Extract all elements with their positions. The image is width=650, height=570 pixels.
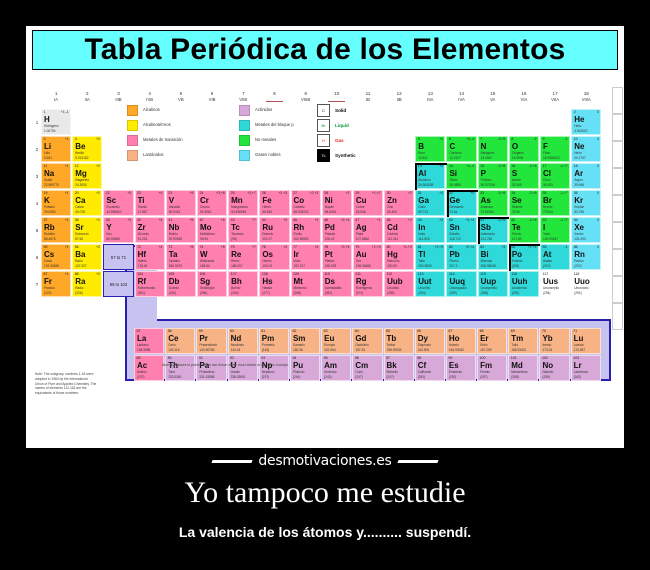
atomic-mass: 174.967 [574,349,586,352]
atomic-number: 39 [106,219,110,223]
element-name: Selenio [512,206,523,209]
oxidation-states: -3,+5 [497,138,505,141]
element-name: Uranio [231,371,240,374]
element-cell[interactable]: 37+1RbRubidio85.4678 [41,217,71,243]
atomic-number: 15 [480,165,484,169]
element-cell[interactable]: 52-2,+6TeTelurio127.60 [509,217,539,243]
element-cell[interactable]: 107BhBohrio(264) [228,271,258,297]
element-cell[interactable]: 5+3BBoro10.811 [415,136,445,162]
atomic-number: 36 [574,192,578,196]
element-name: Rutenio [262,233,273,236]
element-cell[interactable]: 78+2,+4PtPlatino195.078 [322,244,352,270]
oxidation-states: +4,-4 [466,165,474,168]
atomic-mass: 173.04 [542,349,552,352]
element-symbol: Pb [449,251,459,259]
atomic-mass: 22.989770 [44,184,59,187]
atomic-number: 27 [293,192,297,196]
element-symbol: Ga [418,197,429,205]
atomic-number: 8 [511,138,513,142]
element-cell[interactable]: 100NeNeón20.1797 [571,136,601,162]
oxidation-states: +6 [221,246,225,249]
element-cell[interactable]: 80+1,+2HgMercurio200.59 [384,244,414,270]
element-cell[interactable]: 30+2ZnZinc65.409 [384,190,414,216]
element-cell[interactable]: 20HeHelio4.002602 [571,109,601,135]
element-cell[interactable]: 89AcActinio(227) [134,355,164,381]
atomic-number: 89 [137,357,141,361]
element-name: Platino [325,260,335,263]
element-name: Rubidio [44,233,55,236]
element-cell[interactable]: 104RfRutherfordio(261) [135,271,165,297]
atomic-mass: 126.90447 [543,238,558,241]
atomic-mass: 51.9961 [200,211,212,214]
atomic-mass: 132.90545 [44,265,59,268]
element-cell[interactable]: 28+2NiNíquel58.6934 [322,190,352,216]
element-name: Ununhexio [512,287,527,290]
element-symbol: Mn [231,197,243,205]
element-symbol: Sm [293,335,305,343]
element-cell[interactable]: 87+1FrFrancio(223) [41,271,71,297]
oxidation-states: +4,-4 [466,138,474,141]
element-name: Paladio [325,233,336,236]
element-cell[interactable]: 42+6MoMolibdeno95.94 [197,217,227,243]
element-cell[interactable]: 99EsEinstenio(252) [446,355,476,381]
element-cell[interactable]: 39+3YItrio88.90585 [103,217,133,243]
oxidation-states: +2 [96,246,100,249]
atomic-mass: (247) [355,376,362,379]
element-symbol: V [169,197,174,205]
atomic-number: 63 [324,330,328,334]
group-header: 7VIIB [228,91,258,109]
element-cell[interactable]: 100FmFermio(257) [477,355,507,381]
element-cell[interactable]: 88+2RaRadio(226) [72,271,102,297]
element-cell[interactable]: 360KrKriptón83.798 [571,190,601,216]
element-symbol: Ge [449,197,460,205]
caption-main: Yo tampoco me estudie [0,478,650,508]
element-cell[interactable]: 75+7ReRenio186.207 [228,244,258,270]
element-cell[interactable]: 117UusUnunseptio(294) [540,271,570,297]
element-cell[interactable]: 16-2,+6SAzufre32.065 [509,163,539,189]
atomic-mass: (272) [356,292,363,295]
atomic-number: 4 [75,138,77,142]
element-name: Escandio [106,206,119,209]
element-symbol: Uus [543,278,558,286]
element-name: Cobre [356,206,365,209]
atomic-number: 94 [292,357,296,361]
atomic-number: 10 [574,138,578,142]
element-cell[interactable]: 540XeXenón131.293 [571,217,601,243]
oxidation-states: +3 [127,192,131,195]
atomic-mass: 55.845 [262,211,272,214]
element-cell[interactable]: 33-3,+5AsArsénico74.92160 [478,190,508,216]
element-cell[interactable]: 82+2,+4PbPlomo207.2 [446,244,476,270]
atomic-number: 34 [511,192,515,196]
element-cell[interactable]: 26+2,+3FeHierro55.845 [259,190,289,216]
element-name: Europio [324,344,335,347]
period-label: 4 [33,190,41,216]
element-cell[interactable]: 51-3,+5SbAntimonio121.760 [478,217,508,243]
element-symbol: Ta [169,251,178,259]
element-cell[interactable]: 38+2SrEstroncio87.62 [72,217,102,243]
element-symbol: Br [543,197,552,205]
element-name: Dubnio [169,287,179,290]
oxidation-states: -2 [533,138,536,141]
oxidation-states: +3 [439,138,443,141]
atomic-mass: 54.938049 [231,211,246,214]
element-name: Germanio [449,206,463,209]
group-header: 10 [322,91,352,109]
element-cell[interactable]: 90ThTorio232.0381 [165,355,195,381]
element-cell[interactable]: 17-1,+7ClCloro35.453 [540,163,570,189]
element-cell[interactable]: 56+2BaBario137.327 [72,244,102,270]
element-cell[interactable]: 180ArArgón39.948 [571,163,601,189]
element-symbol: Sg [200,278,210,286]
atomic-number: 82 [449,246,453,250]
oxidation-states: +1 [65,165,69,168]
element-cell[interactable]: 77+4IrIridio192.217 [291,244,321,270]
element-cell[interactable]: 860RnRadón(222) [571,244,601,270]
element-name: Astato [543,260,552,263]
element-cell[interactable]: 22+4TiTitanio47.867 [135,190,165,216]
atomic-number: 64 [355,330,359,334]
atomic-mass: 63.546 [356,211,366,214]
atomic-mass: (243) [324,376,331,379]
element-symbol: Mt [294,278,303,286]
element-cell[interactable]: 97BkBerkelio(247) [384,355,414,381]
element-cell[interactable]: 32+4GeGermanio72.64 [446,190,476,216]
atomic-mass: 85.4678 [44,238,56,241]
atomic-number: 80 [387,246,391,250]
element-cell[interactable]: 50+2,+4SnEstaño118.710 [446,217,476,243]
element-cell[interactable]: 13+3AlAluminio26.981538 [415,163,445,189]
atomic-mass: 107.8682 [356,238,369,241]
empty-cell [478,109,508,135]
element-cell[interactable]: 66DyDisprosio162.500 [415,328,445,354]
element-cell[interactable]: 27+2,+3CoCobalto58.933200 [291,190,321,216]
element-symbol: He [574,116,584,124]
atomic-mass: 127.60 [512,238,522,241]
poster-root: Tabla Periódica de los Elementos Alcalin… [0,0,650,570]
atomic-mass: 30.973761 [481,184,496,187]
element-cell[interactable]: 64GdGadolinio157.25 [352,328,382,354]
element-cell[interactable]: 47+1AgPlata107.8682 [353,217,383,243]
element-name: Cerio [168,344,176,347]
atomic-number: 85 [543,246,547,250]
group-header: 1IA [41,91,71,109]
element-cell[interactable]: 15-3,+5PFósforo30.973761 [478,163,508,189]
element-name: Yodo [543,233,550,236]
atomic-number: 48 [387,219,391,223]
empty-cell [291,136,321,162]
element-symbol: La [137,335,146,343]
element-cell[interactable]: 43+7TcTecnecio(98) [228,217,258,243]
lanthanide-placeholder[interactable]: 57 to 71 [103,244,133,270]
oxidation-states: -2,+6 [529,219,537,222]
element-cell[interactable]: 106SgSeaborgio(266) [197,271,227,297]
element-cell[interactable]: 98CfCalifornio(251) [415,355,445,381]
element-cell[interactable]: 115UupUnunpentio(288) [478,271,508,297]
metalloid-divider-segment [509,244,511,271]
element-cell[interactable]: 24+3,+6CrCromo51.9961 [197,190,227,216]
element-cell[interactable]: 101MdMendelevio(258) [508,355,538,381]
element-symbol: Rn [574,251,585,259]
element-cell[interactable]: 4+2BeBerilio9.012182 [72,136,102,162]
atomic-mass: 1.00794 [44,130,56,133]
element-cell[interactable]: 19+1KPotasio39.0983 [41,190,71,216]
atomic-mass: 106.42 [325,238,335,241]
element-name: Carbono [449,152,461,155]
element-cell[interactable]: 11+1NaSodio22.989770 [41,163,71,189]
empty-cell [197,109,227,135]
element-cell[interactable]: 72+4HfHafnio178.49 [135,244,165,270]
element-cell[interactable]: 6+4,-4CCarbono12.0107 [446,136,476,162]
element-cell[interactable]: 113UutUnuntrio(284) [415,271,445,297]
atomic-mass: 121.760 [481,238,493,241]
element-cell[interactable]: 55+1CsCesio132.90545 [41,244,71,270]
element-cell[interactable]: 118UuoUnunoctio(294) [571,271,601,297]
period-row: 23+1LiLitio6.9414+2BeBerilio9.0121825+3B… [33,136,602,163]
element-cell[interactable]: 20+2CaCalcio40.078 [72,190,102,216]
element-cell[interactable]: 96CmCurio(247) [352,355,382,381]
element-cell[interactable]: 40+4ZrZirconio91.224 [135,217,165,243]
element-symbol: Ru [262,224,273,232]
element-cell[interactable]: 21+3ScEscandio44.955910 [103,190,133,216]
element-symbol: Er [480,335,488,343]
element-cell[interactable]: 116UuhUnunhexio(292) [509,271,539,297]
group-roman: VB [166,97,196,102]
atomic-mass: 10.811 [418,157,428,160]
element-name: Rutherfordio [138,287,156,290]
element-cell[interactable]: 74+6WWolframio183.84 [197,244,227,270]
element-cell[interactable]: 109MtMeitnerio(268) [291,271,321,297]
element-cell[interactable]: 46+2,+4PdPaladio106.42 [322,217,352,243]
group-header: 18VIIIA [571,91,601,109]
element-cell[interactable]: 81+1,+3TlTalio204.3833 [415,244,445,270]
oxidation-states: +3 [283,219,287,222]
oxidation-states: +2 [96,138,100,141]
atomic-number: 38 [75,219,79,223]
atomic-mass: 65.409 [387,211,397,214]
atomic-mass: 20.1797 [574,157,586,160]
atomic-mass: 200.59 [387,265,397,268]
cut-off-cell [612,303,623,330]
element-name: Praseodimio [199,344,217,347]
element-cell[interactable]: 14+4,-4SiSilicio28.0855 [446,163,476,189]
element-name: Protactinio [199,371,214,374]
element-symbol: Ne [574,143,584,151]
element-cell[interactable]: 29+1,+2CuCobre63.546 [353,190,383,216]
atomic-number: 116 [511,273,517,277]
element-cell[interactable]: 84+2,+4PoPolonio(209) [509,244,539,270]
actinide-placeholder[interactable]: 89 to 103 [103,271,133,297]
element-cell[interactable]: 95AmAmericio(243) [321,355,351,381]
oxidation-states: +2 [346,192,350,195]
atomic-mass: 178.49 [138,265,148,268]
atomic-mass: (262) [169,292,176,295]
atomic-mass: (277) [262,292,269,295]
element-symbol: Uup [481,278,497,286]
oxidation-states: 0 [597,165,599,168]
element-cell[interactable]: 23+5VVanadio50.9415 [166,190,196,216]
atomic-number: 31 [418,192,422,196]
element-cell[interactable]: 48+2CdCadmio112.411 [384,217,414,243]
empty-cell [446,109,476,135]
atomic-number: 5 [418,138,420,142]
atomic-number: 22 [137,192,141,196]
element-cell[interactable]: 57LaLantano138.9055 [134,328,164,354]
atomic-number: 114 [449,273,455,277]
element-cell[interactable]: 69TmTulio168.93421 [508,328,538,354]
element-cell[interactable]: 1+1,-1HHidrógeno1.00794 [41,109,71,135]
atomic-number: 87 [44,273,48,277]
element-cell[interactable]: 3+1LiLitio6.941 [41,136,71,162]
element-cell[interactable]: 111RgRoentgenio(272) [353,271,383,297]
element-name: Hafnio [138,260,147,263]
atomic-mass: (145) [262,349,269,352]
oxidation-states: +7 [252,246,256,249]
oxidation-states: +3 [439,192,443,195]
atomic-number: 107 [231,273,237,277]
element-cell[interactable]: 67HoHolmio164.93032 [446,328,476,354]
group-roman: IIA [72,97,102,102]
element-cell[interactable]: 68ErErbio167.259 [477,328,507,354]
atomic-mass: (258) [511,376,518,379]
atomic-number: 78 [324,246,328,250]
element-symbol: Kr [574,197,583,205]
element-cell[interactable]: 94PuPlutonio(244) [290,355,320,381]
periodic-table-grid: 1IA2IIA3IIIB4IVB5VB6VIB7VIIB89VIIIB1011I… [33,91,602,382]
element-cell[interactable]: 7-3,+5NNitrógeno14.0067 [478,136,508,162]
element-symbol: Db [169,278,180,286]
atomic-number: 42 [199,219,203,223]
element-cell[interactable]: 70YbIterbio173.04 [539,328,569,354]
element-cell[interactable]: 112UubUnunbio(285) [384,271,414,297]
element-cell[interactable]: 35-1,+7BrBromo79.904 [540,190,570,216]
element-cell[interactable]: 61PmPrometio(145) [259,328,289,354]
empty-cell [135,163,165,189]
element-cell[interactable]: 65TbTerbio158.92534 [384,328,414,354]
element-cell[interactable]: 76+4OsOsmio190.23 [259,244,289,270]
oxidation-states: +2 [96,165,100,168]
element-cell[interactable]: 62SmSamario150.36 [290,328,320,354]
empty-cell [322,136,352,162]
element-name: Berkelio [387,371,399,374]
element-cell[interactable]: 60NdNeodimio144.24 [228,328,258,354]
empty-cell [228,163,258,189]
element-cell[interactable]: 114UuqUnunquadio(289) [446,271,476,297]
element-cell[interactable]: 49+3InIndio114.818 [415,217,445,243]
group-roman: IA [41,97,71,102]
element-cell[interactable]: 31+3GaGalio69.723 [415,190,445,216]
element-cell[interactable]: 110DsDarmstadtio(281) [322,271,352,297]
element-symbol: Fr [44,278,52,286]
period-row: 537+1RbRubidio85.467838+2SrEstroncio87.6… [33,217,602,244]
element-cell[interactable]: 34-2,+6SeSelenio78.96 [509,190,539,216]
element-cell[interactable]: 85-1AtAstato(210) [540,244,570,270]
atomic-mass: 14.0067 [481,157,493,160]
element-cell[interactable]: 12+2MgMagnesio24.3050 [72,163,102,189]
empty-cell [197,136,227,162]
element-cell[interactable]: 44+3RuRutenio101.07 [259,217,289,243]
element-cell[interactable]: 93NpNeptunio(237) [259,355,289,381]
metalloid-divider-segment [509,244,540,246]
element-name: Rodio [294,233,302,236]
oxidation-states: +4 [158,192,162,195]
element-name: Antimonio [481,233,495,236]
element-name: Potasio [44,206,55,209]
element-cell[interactable]: 25+2,+7MnManganeso54.938049 [228,190,258,216]
oxidation-states: +2,+3 [310,192,319,195]
element-name: Zinc [387,206,393,209]
periodic-table-image: Tabla Periódica de los Elementos Alcalin… [27,27,623,447]
element-cell[interactable]: 91PaProtactinio231.03588 [196,355,226,381]
element-name: Hierro [262,206,271,209]
oxidation-states: -1 [565,246,568,249]
group-header: 17VIIA [540,91,570,109]
empty-cell [197,163,227,189]
element-cell[interactable]: 105DbDubnio(262) [166,271,196,297]
element-name: Terbio [387,344,396,347]
element-cell[interactable]: 58CeCerio140.116 [165,328,195,354]
element-name: Zirconio [138,233,149,236]
period-label: 7 [33,271,41,297]
element-cell[interactable]: 102NoNobelio(259) [539,355,569,381]
oxidation-states: +2 [408,219,412,222]
atomic-number: 40 [137,219,141,223]
element-cell[interactable]: 45+3RhRodio102.90550 [291,217,321,243]
element-symbol: Cf [418,362,426,370]
element-cell[interactable]: 79+1,+3AuOro196.96655 [353,244,383,270]
element-symbol: Eu [324,335,334,343]
element-symbol: P [481,170,486,178]
element-cell[interactable]: 83+3BiBismuto208.98038 [478,244,508,270]
element-name: Azufre [512,179,521,182]
element-symbol: Ir [294,251,299,259]
element-cell[interactable]: 92UUranio238.02891 [228,355,258,381]
element-symbol: Xe [574,224,584,232]
atomic-number: 47 [355,219,359,223]
element-cell[interactable]: 41+5NbNiobio92.90638 [166,217,196,243]
element-cell[interactable]: 53-1,+7IYodo126.90447 [540,217,570,243]
atomic-number: 118 [574,273,580,277]
atomic-mass: 140.116 [168,349,179,352]
element-cell[interactable]: 9-1FFlúor18.9984032 [540,136,570,162]
atomic-number: 101 [511,357,517,361]
element-name: Xenón [574,233,583,236]
element-cell[interactable]: 73+5TaTantalio180.9479 [166,244,196,270]
element-symbol: Tb [387,335,397,343]
element-cell[interactable]: 108HsHassio(277) [259,271,289,297]
element-cell[interactable]: 8-2OOxígeno15.9994 [509,136,539,162]
element-symbol: Po [512,251,522,259]
element-cell[interactable]: 71LuLutecio174.967 [571,328,601,354]
atomic-mass: (237) [262,376,269,379]
element-cell[interactable]: 63EuEuropio151.964 [321,328,351,354]
element-name: Samario [293,344,305,347]
element-name: Nobelio [542,371,553,374]
element-symbol: Uub [387,278,403,286]
element-cell[interactable]: 103LrLawrencio(262) [571,355,601,381]
atomic-mass: (223) [44,292,51,295]
element-name: Itrio [106,233,111,236]
atomic-mass: 39.948 [574,184,584,187]
atomic-number: 43 [231,219,235,223]
atomic-number: 12 [75,165,79,169]
element-cell[interactable]: 59PrPraseodimio140.90765 [196,328,226,354]
title-banner: Tabla Periódica de los Elementos [32,30,618,70]
atomic-mass: 131.293 [574,238,586,241]
atomic-number: 67 [448,330,452,334]
atomic-mass: 79.904 [543,211,553,214]
